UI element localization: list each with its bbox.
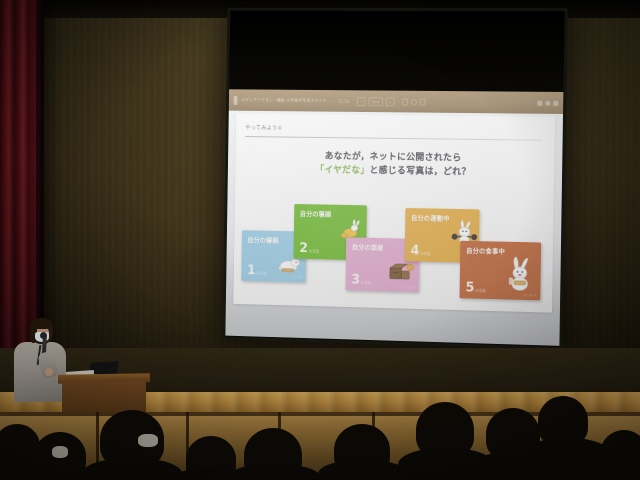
photo-card-2-label: 自分の寝顔 bbox=[300, 209, 332, 218]
hamburger-icon[interactable] bbox=[234, 96, 238, 105]
pen-icon[interactable] bbox=[402, 98, 408, 105]
photo-card-2-number: 2 bbox=[299, 242, 308, 255]
auditorium-scene: メディアリテラシー講座 小学高学年用スライド… 11:14 − 91% + bbox=[0, 0, 640, 480]
photo-card-5-label: 自分の食事中 bbox=[466, 246, 505, 256]
share-icon[interactable] bbox=[537, 100, 542, 105]
photo-card-4-number-suffix: の写真 bbox=[420, 251, 431, 256]
clock-label: 11:14 bbox=[338, 99, 349, 104]
pointer-icon[interactable] bbox=[419, 98, 425, 105]
photo-card-4-number: 4 bbox=[410, 245, 419, 258]
projected-slide: メディアリテラシー講座 小学高学年用スライド… 11:14 − 91% + bbox=[225, 89, 563, 346]
photo-card-3-label: 自分の部屋 bbox=[352, 242, 384, 252]
zoom-value-label: 91% bbox=[369, 97, 383, 106]
photo-card-3-number-suffix: の写真 bbox=[361, 280, 371, 285]
zoom-out-button[interactable]: − bbox=[357, 97, 366, 106]
photo-card-3-number: 3 bbox=[351, 274, 360, 287]
photo-card-4-label: 自分の運動中 bbox=[411, 213, 450, 223]
photo-card-1-label: 自分の寝顔 bbox=[247, 235, 278, 244]
more-icon[interactable] bbox=[553, 100, 558, 105]
eraser-icon[interactable] bbox=[411, 98, 417, 105]
microphone-head bbox=[40, 332, 47, 339]
toolbar-spacer bbox=[429, 102, 533, 103]
photo-card-1-number-suffix: の写真 bbox=[256, 271, 266, 276]
projection-screen: メディアリテラシー講座 小学高学年用スライド… 11:14 − 91% + bbox=[223, 8, 568, 350]
photo-card-3-credit: いらすとや bbox=[402, 285, 415, 289]
audience-face-mask bbox=[52, 446, 68, 458]
audience-shoulders bbox=[318, 460, 408, 480]
photo-card-5-number: 5 bbox=[465, 282, 474, 295]
photo-card-1-number: 1 bbox=[247, 264, 256, 277]
audience-shoulders bbox=[228, 464, 320, 480]
tool-icon-group[interactable] bbox=[402, 98, 425, 105]
photo-card-2-number-suffix: の写真 bbox=[309, 249, 319, 254]
photo-card-5-number-suffix: の写真 bbox=[475, 288, 486, 293]
photo-card-deck: 自分の寝顔 1 の写真 いらすとや bbox=[233, 114, 555, 313]
screen-unlit-area bbox=[226, 8, 567, 92]
document-title: メディアリテラシー講座 小学高学年用スライド… bbox=[241, 97, 331, 104]
zoom-controls[interactable]: − 91% + bbox=[357, 97, 395, 106]
fullscreen-icon[interactable] bbox=[545, 100, 550, 105]
photo-card-5[interactable]: 自分の食事中 5 の写真 いらすとや bbox=[460, 241, 542, 301]
slide-canvas: やってみよう① あなたが，ネットに公開されたら 「イヤだな」と感じる写真は，どれ… bbox=[225, 111, 563, 346]
zoom-in-button[interactable]: + bbox=[385, 97, 394, 106]
presenter-hand bbox=[45, 368, 53, 376]
room-boxes-icon bbox=[387, 258, 416, 284]
rabbit-eating-icon bbox=[505, 256, 535, 293]
toolbar-right-icons[interactable] bbox=[537, 100, 558, 105]
audience-shoulders bbox=[590, 464, 640, 480]
slide-page: やってみよう① あなたが，ネットに公開されたら 「イヤだな」と感じる写真は，どれ… bbox=[233, 114, 555, 313]
audience-face-mask bbox=[138, 434, 158, 447]
audience-shoulders bbox=[82, 458, 182, 480]
photo-card-5-credit: いらすとや bbox=[524, 293, 537, 297]
